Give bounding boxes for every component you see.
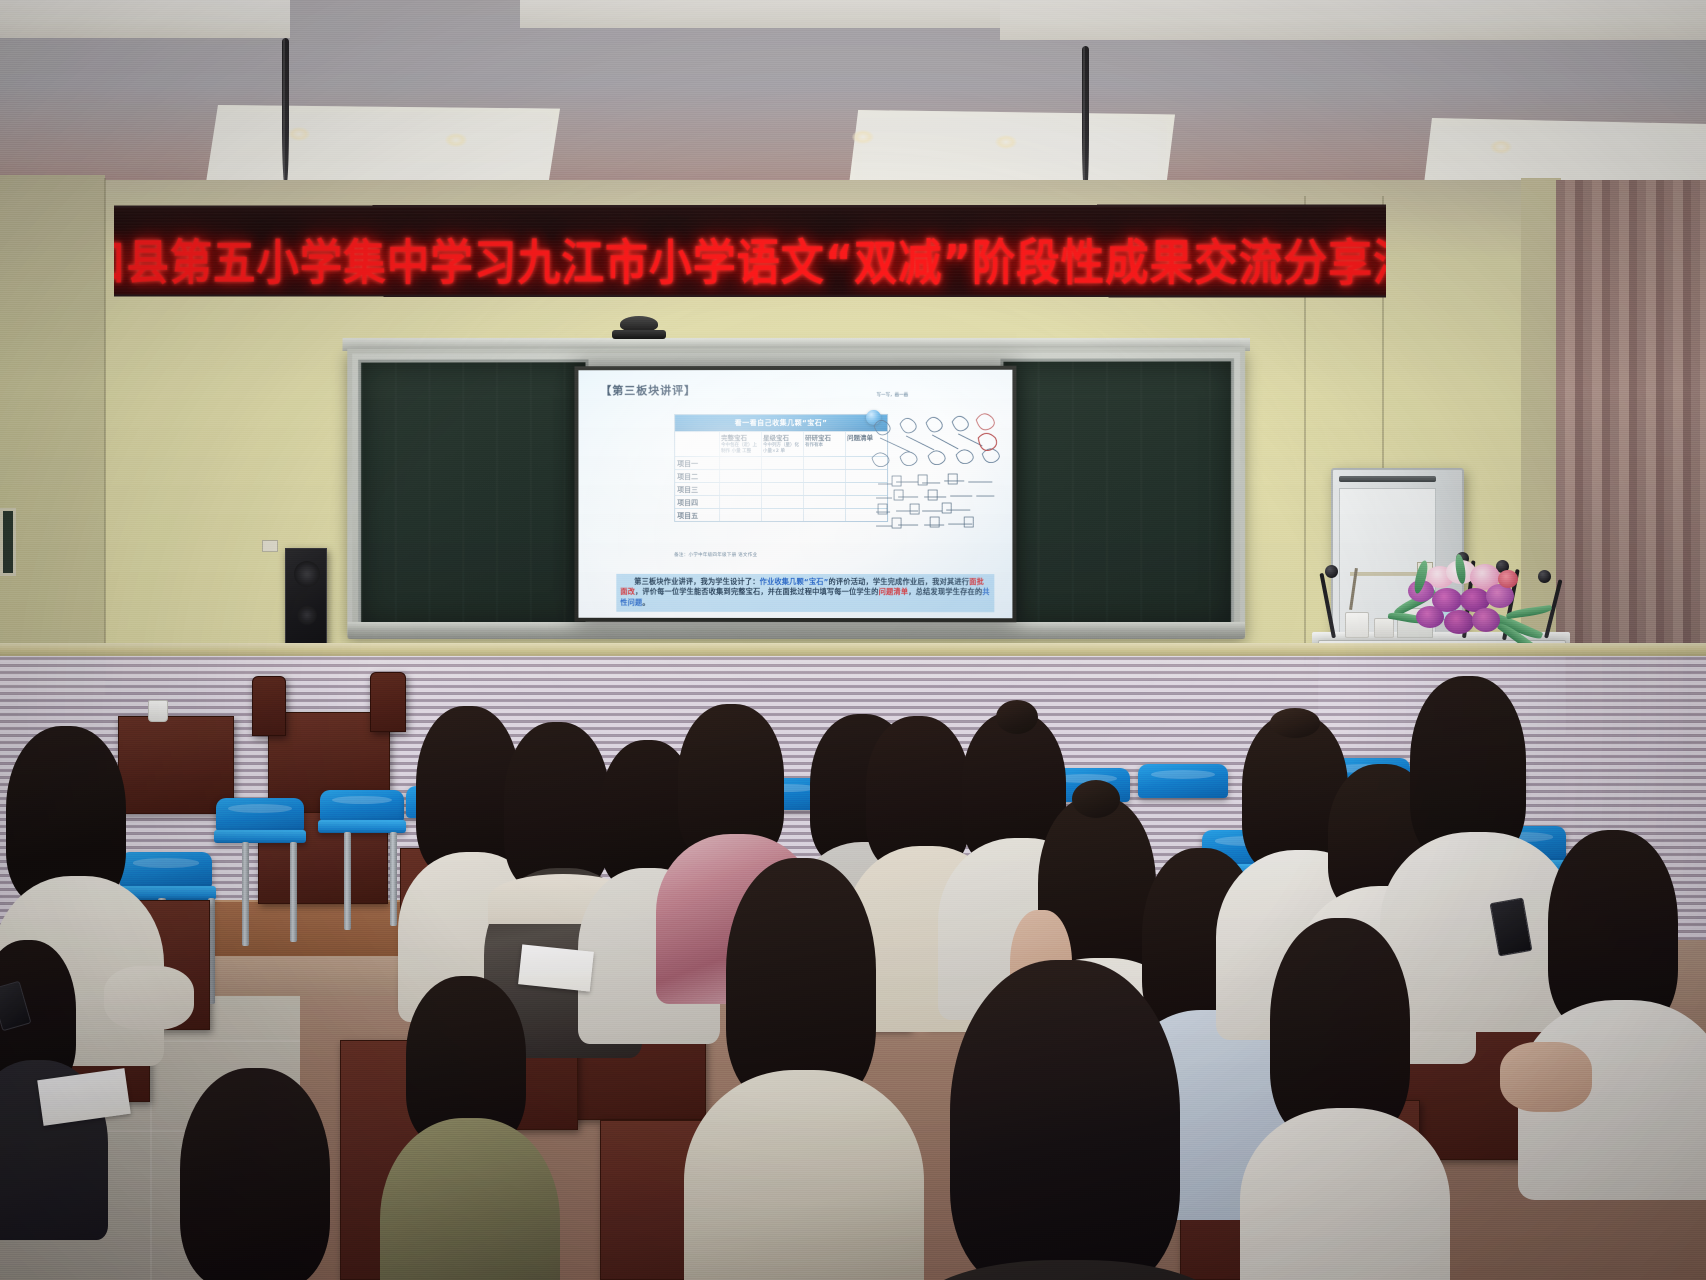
slide-row-4-cell-2 — [761, 496, 803, 508]
hair-bun — [1072, 780, 1120, 818]
slide-para-seg-2: 的评价活动，学生完成作业后，我对其进行 — [829, 577, 970, 586]
slide-row-label-5: 项目五 — [675, 509, 719, 521]
blackboard-chalk-rail — [347, 622, 1245, 639]
chair-leg — [290, 842, 297, 942]
slide-table-row: 项目四 — [675, 495, 887, 508]
ceiling-coffer-1 — [0, 0, 290, 38]
interactive-whiteboard[interactable]: 【第三板块讲评】 看一看自己收集几颗“宝石” 完整宝石 今中包在（近）上 制作 … — [574, 366, 1016, 623]
hair — [726, 858, 876, 1102]
slide-para-seg-0: 第三板块作业讲评，我为学生设计了： — [634, 576, 759, 585]
air-conditioner-grille — [1339, 476, 1436, 482]
arm — [1500, 1042, 1592, 1112]
wall-seam-1 — [104, 178, 106, 698]
slide-col-1-label: 完整宝石 — [721, 434, 747, 442]
chair-leg — [390, 832, 397, 926]
slide-table-row: 项目二 — [675, 469, 887, 482]
slide-table-header-row: 完整宝石 今中包在（近）上 制作 小量 工整 星级宝石 今中列方（星）化 小量×… — [675, 431, 887, 456]
flower-leaf — [1506, 605, 1553, 619]
paper-handout[interactable] — [518, 944, 594, 991]
slide-row-2-cell-3 — [803, 470, 845, 482]
blackboard-texture-right — [1003, 361, 1231, 626]
slide-row-3-cell-2 — [761, 483, 803, 495]
slide-row-label-4: 项目四 — [675, 496, 719, 508]
slide-row-1-cell-2 — [761, 457, 803, 469]
slide-row-5-cell-2 — [761, 509, 803, 521]
slide-para-seg-5: 问题清单 — [879, 587, 909, 596]
chair-leg — [242, 842, 249, 946]
downlight-5 — [1490, 140, 1512, 154]
slide-row-4-cell-3 — [803, 496, 845, 508]
ceiling-coffer-2 — [520, 0, 1000, 28]
torso — [1240, 1108, 1450, 1280]
slide-col-2-note: 今中列方（星）化 小量×2 单 — [763, 443, 802, 454]
slide-paragraph: 第三板块作业讲评，我为学生设计了：作业收集几颗“宝石”的评价活动，学生完成作业后… — [616, 573, 994, 612]
slide-table-col-2: 星级宝石 今中列方（星）化 小量×2 单 — [761, 432, 803, 456]
slide-row-5-cell-3 — [803, 509, 845, 521]
slide-row-label-3: 项目三 — [675, 483, 719, 495]
slide-table-footnote: 备注：小学中年级四年级下册 语文作业 — [674, 552, 757, 558]
torso — [1380, 832, 1576, 1032]
blue-chair[interactable] — [120, 852, 212, 888]
pendant-speaker-2 — [1082, 46, 1089, 198]
flower-petal — [1498, 570, 1518, 588]
slide-para-seg-6: ，总结发现学生存在的 — [908, 588, 982, 597]
downlight-3 — [852, 130, 874, 144]
slide-row-5-cell-1 — [719, 509, 761, 521]
led-banner-text: 湖口县第五小学集中学习九江市小学语文“双减”阶段性成果交流分享活动 — [114, 224, 1386, 294]
slide-table-col-3: 研研宝石 有作有本 — [803, 432, 845, 456]
slide-table-col-1: 完整宝石 今中包在（近）上 制作 小量 工整 — [719, 432, 761, 456]
flower-petal — [1444, 610, 1474, 634]
wooden-chair-back-1 — [252, 676, 286, 736]
arm — [104, 966, 194, 1030]
projected-slide: 【第三板块讲评】 看一看自己收集几颗“宝石” 完整宝石 今中包在（近）上 制作 … — [578, 370, 1012, 619]
slide-col-3-label: 研研宝石 — [805, 434, 831, 442]
blackboard-panel-left — [358, 359, 588, 628]
slide-row-2-cell-2 — [761, 470, 803, 482]
slide-row-2-cell-1 — [719, 470, 761, 482]
slide-table-corner-cell — [675, 432, 719, 456]
slide-table-row: 项目三 — [675, 482, 887, 495]
hair — [950, 960, 1180, 1280]
slide-diagram-caption: 写一写，画一画 — [877, 392, 909, 398]
slide-col-2-label: 星级宝石 — [763, 434, 789, 442]
torso — [684, 1070, 924, 1280]
slide-table-title-text: 看一看自己收集几颗“宝石” — [735, 419, 828, 427]
slide-handwriting-diagram — [870, 404, 1000, 554]
slide-col-3-note: 有作有本 — [805, 443, 844, 449]
wall-speaker — [285, 548, 327, 652]
wainscot-cap-molding — [0, 643, 1706, 656]
microphone-head-1 — [1325, 565, 1338, 578]
classroom-photo: 湖口县第五小学集中学习九江市小学语文“双减”阶段性成果交流分享活动 【第三板块讲… — [0, 0, 1706, 1280]
wooden-chair-back-2 — [370, 672, 406, 732]
slide-para-seg-4: ，评价每一位学生能否收集到完整宝石，并在面批过程中填写每一位学生的 — [635, 587, 879, 596]
ceiling-coffer-3 — [1000, 0, 1706, 40]
hair-ponytail — [1270, 708, 1320, 738]
hair — [1270, 918, 1410, 1138]
hair-bun — [996, 700, 1038, 734]
flower-petal — [1472, 608, 1500, 632]
blackboard-texture-left — [361, 362, 585, 625]
downlight-2 — [445, 133, 467, 147]
teacher-desk-back-1 — [118, 716, 234, 814]
led-banner: 湖口县第五小学集中学习九江市小学语文“双减”阶段性成果交流分享活动 — [114, 205, 1386, 298]
downlight-4 — [995, 135, 1017, 149]
slide-evaluation-table: 看一看自己收集几颗“宝石” 完整宝石 今中包在（近）上 制作 小量 工整 星级宝… — [674, 414, 888, 522]
slide-para-seg-1: 作业收集几颗“宝石” — [760, 577, 829, 586]
blackboard-panel-right — [1000, 358, 1234, 629]
wall-socket-left — [262, 540, 278, 552]
wall-picture-frame — [0, 508, 16, 576]
back-wall-left-panel — [0, 175, 105, 695]
slide-row-3-cell-3 — [803, 483, 845, 495]
slide-para-seg-8: 。 — [642, 598, 649, 607]
lectern-cup — [1345, 612, 1369, 638]
flower-petal — [1416, 606, 1444, 628]
blue-chair[interactable] — [1138, 764, 1228, 798]
desk-cup — [148, 700, 168, 722]
slide-row-4-cell-1 — [719, 496, 761, 508]
blue-chair[interactable] — [320, 790, 404, 822]
blue-chair[interactable] — [216, 798, 304, 832]
pendant-speaker-1 — [282, 38, 289, 188]
slide-row-1-cell-1 — [719, 457, 761, 469]
slide-row-label-2: 项目二 — [675, 470, 719, 482]
hair — [180, 1068, 330, 1280]
downlight-1 — [288, 127, 310, 141]
slide-col-1-note: 今中包在（近）上 制作 小量 工整 — [721, 443, 760, 454]
slide-table-row: 项目五 — [675, 508, 887, 521]
hair — [504, 722, 610, 890]
slide-row-1-cell-3 — [803, 457, 845, 469]
ceiling-camera-mount — [612, 330, 666, 339]
ceiling-camera — [612, 316, 666, 342]
chair-leg — [344, 832, 351, 930]
slide-row-label-1: 项目一 — [675, 457, 719, 469]
slide-table-row: 项目一 — [675, 456, 887, 469]
slide-heading: 【第三板块讲评】 — [600, 382, 696, 398]
slide-table-title: 看一看自己收集几颗“宝石” — [675, 415, 887, 431]
slide-row-3-cell-1 — [719, 483, 761, 495]
